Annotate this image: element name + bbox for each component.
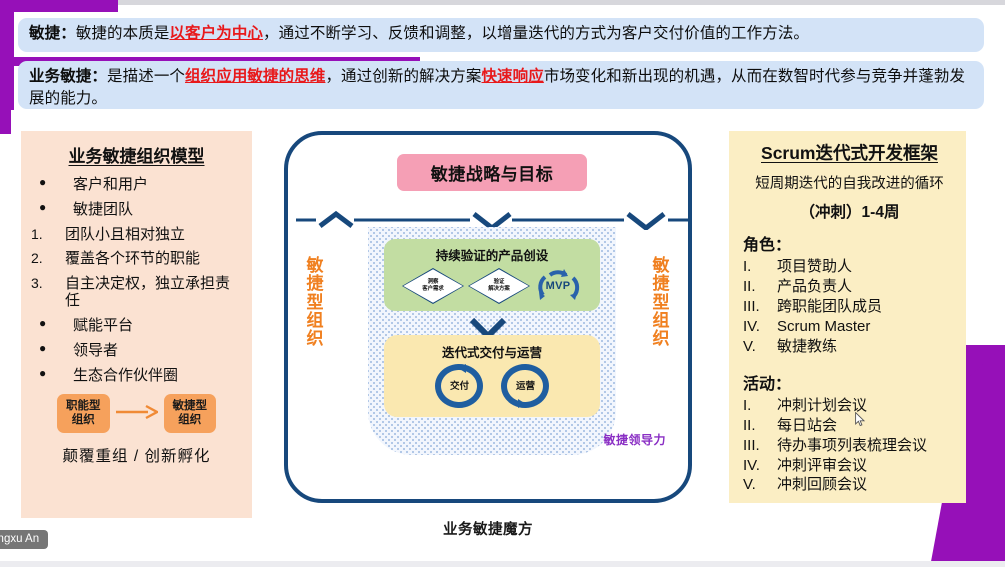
sprint-duration: （冲刺）1-4周: [743, 200, 956, 222]
list-item-marker: ●: [31, 201, 65, 215]
side-label-char: 捷: [304, 275, 326, 293]
list-item: V.冲刺回顾会议: [743, 475, 956, 495]
left-panel-org-model: 业务敏捷组织模型 ●客户和用户●敏捷团队1.团队小且相对独立2.覆盖各个环节的职…: [21, 131, 252, 518]
highlighted-phrase: 以客户为中心: [169, 25, 263, 42]
mvp-cycle: MVP: [534, 267, 582, 305]
list-item: ●客户和用户: [31, 176, 242, 193]
list-item-marker: 2.: [31, 250, 57, 266]
strategy-goal-box: 敏捷战略与目标: [397, 154, 587, 191]
purple-band-left-lower: [0, 110, 11, 134]
list-item-numeral: V.: [743, 337, 777, 357]
right-panel-title: Scrum迭代式开发框架: [743, 140, 956, 165]
list-item-label: 冲刺计划会议: [777, 396, 956, 416]
list-item-label: 冲刺评审会议: [777, 456, 956, 476]
side-label-char: 组: [304, 312, 326, 330]
side-label-char: 织: [650, 330, 672, 348]
definition-agile: 敏捷：敏捷的本质是以客户为中心，通过不断学习、反馈和调整，以增量迭代的方式为客户…: [18, 18, 984, 52]
side-label-char: 敏: [650, 257, 672, 275]
list-item: I.项目赞助人: [743, 257, 956, 277]
mvp-label: MVP: [546, 280, 571, 292]
list-item-numeral: II.: [743, 416, 777, 436]
list-item-marker: ●: [31, 342, 65, 356]
diamond1-line1: 洞察: [428, 279, 439, 286]
highlighted-phrase: 组织应用敏捷的思维: [185, 68, 325, 85]
definition-text: 敏捷的本质是: [76, 25, 170, 42]
list-item: III.跨职能团队成员: [743, 297, 956, 317]
top-edge-strip: [0, 0, 1005, 5]
events-heading: 活动：: [743, 370, 956, 394]
diamond-insight-customer-needs: 洞察 客户需求: [402, 268, 464, 304]
roles-list: I.项目赞助人II.产品负责人III.跨职能团队成员IV.Scrum Maste…: [743, 257, 956, 357]
purple-band-top: [0, 0, 118, 12]
roles-heading: 角色：: [743, 231, 956, 255]
product-creation-title: 持续验证的产品创设: [384, 239, 600, 264]
badge-functional-org: 职能型 组织: [57, 394, 110, 433]
side-label-left: 敏捷型组织: [304, 257, 326, 349]
list-item: 2.覆盖各个环节的职能: [31, 250, 242, 267]
definition-text: 是描述一个: [107, 68, 185, 85]
list-item: ●领导者: [31, 342, 242, 359]
list-item-numeral: I.: [743, 257, 777, 277]
list-item-marker: 3.: [31, 275, 57, 291]
delivery-operations-block: 迭代式交付与运营 交付 运营: [384, 335, 600, 417]
definition-business-agility-text: 业务敏捷：是描述一个组织应用敏捷的思维，通过创新的解决方案快速响应市场变化和新出…: [29, 68, 965, 107]
list-item: II.产品负责人: [743, 277, 956, 297]
list-item-numeral: IV.: [743, 317, 777, 337]
list-item: III.待办事项列表梳理会议: [743, 436, 956, 456]
definition-text: ，通过创新的解决方案: [325, 68, 481, 85]
slide-canvas: 敏捷：敏捷的本质是以客户为中心，通过不断学习、反馈和调整，以增量迭代的方式为客户…: [0, 0, 1005, 567]
list-item-label: Scrum Master: [777, 317, 956, 337]
list-item-label: 跨职能团队成员: [777, 297, 956, 317]
operations-label: 运营: [516, 378, 535, 392]
definition-business-agility: 业务敏捷：是描述一个组织应用敏捷的思维，通过创新的解决方案快速响应市场变化和新出…: [18, 61, 984, 109]
list-item-label: 团队小且相对独立: [65, 226, 242, 243]
list-item-marker: 1.: [31, 226, 57, 242]
infinity-loop: 交付 运营: [422, 362, 562, 410]
events-list: I.冲刺计划会议II.每日站会III.待办事项列表梳理会议IV.冲刺评审会议V.…: [743, 396, 956, 496]
agile-leadership-label: 敏捷领导力: [603, 431, 666, 448]
list-item-label: 领导者: [73, 342, 242, 359]
participant-name-tag: ingxu An: [0, 530, 48, 549]
highlighted-phrase: 快速响应: [481, 68, 543, 85]
list-item: IV.冲刺评审会议: [743, 456, 956, 476]
list-item: 3.自主决定权，独立承担责任: [31, 275, 242, 310]
side-label-char: 捷: [650, 275, 672, 293]
list-item: V.敏捷教练: [743, 337, 956, 357]
list-item: II.每日站会: [743, 416, 956, 436]
list-item-label: 敏捷教练: [777, 337, 956, 357]
list-item-label: 客户和用户: [73, 176, 242, 193]
list-item-numeral: III.: [743, 436, 777, 456]
list-item-label: 冲刺回顾会议: [777, 475, 956, 495]
list-item-numeral: III.: [743, 297, 777, 317]
list-item-label: 赋能平台: [73, 317, 242, 334]
definition-term: 敏捷：: [29, 25, 76, 42]
side-label-char: 组: [650, 312, 672, 330]
diamond2-line1: 验证: [494, 279, 505, 286]
side-label-char: 型: [650, 294, 672, 312]
diamond2-line2: 解决方案: [488, 286, 510, 293]
list-item-numeral: V.: [743, 475, 777, 495]
diamond-validate-solution: 验证 解决方案: [468, 268, 530, 304]
right-panel-scrum: Scrum迭代式开发框架 短周期迭代的自我改进的循环 （冲刺）1-4周 角色： …: [729, 131, 966, 503]
list-item-label: 待办事项列表梳理会议: [777, 436, 956, 456]
definition-agile-text: 敏捷：敏捷的本质是以客户为中心，通过不断学习、反馈和调整，以增量迭代的方式为客户…: [29, 23, 809, 45]
definition-group: 敏捷：敏捷的本质是以客户为中心，通过不断学习、反馈和调整，以增量迭代的方式为客户…: [18, 18, 984, 109]
list-item-label: 生态合作伙伴圈: [73, 367, 242, 384]
list-item-numeral: II.: [743, 277, 777, 297]
list-item: I.冲刺计划会议: [743, 396, 956, 416]
side-label-right: 敏捷型组织: [650, 257, 672, 349]
side-label-char: 织: [304, 330, 326, 348]
side-label-char: 型: [304, 294, 326, 312]
list-item: ●敏捷团队: [31, 201, 242, 218]
badge-agile-org: 敏捷型 组织: [164, 394, 217, 433]
side-label-char: 敏: [304, 257, 326, 275]
definition-text: ，通过不断学习、反馈和调整，以增量迭代的方式为客户交付价值的工作方法。: [263, 25, 809, 42]
diamond1-line2: 客户需求: [422, 286, 444, 293]
delivery-operations-title: 迭代式交付与运营: [384, 335, 600, 361]
left-panel-footer: 颠覆重组 / 创新孵化: [31, 444, 242, 466]
list-item-marker: ●: [31, 367, 65, 381]
list-item: ●生态合作伙伴圈: [31, 367, 242, 384]
list-item-label: 覆盖各个环节的职能: [65, 250, 242, 267]
left-panel-list: ●客户和用户●敏捷团队1.团队小且相对独立2.覆盖各个环节的职能3.自主决定权，…: [31, 176, 242, 384]
center-caption: 业务敏捷魔方: [284, 518, 692, 539]
mouse-cursor-icon: [855, 412, 865, 427]
bottom-edge-strip: [0, 561, 1005, 567]
list-item-marker: ●: [31, 176, 65, 190]
list-item-label: 敏捷团队: [73, 201, 242, 218]
list-item-label: 项目赞助人: [777, 257, 956, 277]
arrow-right-icon: [116, 402, 158, 424]
definition-term: 业务敏捷：: [29, 68, 107, 85]
purple-band-left: [0, 0, 14, 110]
list-item-label: 自主决定权，独立承担责任: [65, 275, 242, 310]
list-item: 1.团队小且相对独立: [31, 226, 242, 243]
list-item-label: 产品负责人: [777, 277, 956, 297]
list-item: ●赋能平台: [31, 317, 242, 334]
product-creation-block: 持续验证的产品创设 洞察 客户需求 验证 解决方案: [384, 239, 600, 311]
list-item-marker: ●: [31, 317, 65, 331]
list-item: IV.Scrum Master: [743, 317, 956, 337]
delivery-label: 交付: [450, 378, 469, 392]
transformation-badges: 职能型 组织 敏捷型 组织: [31, 394, 242, 433]
infinity-icon: [422, 362, 562, 410]
right-panel-subtitle: 短周期迭代的自我改进的循环: [743, 172, 956, 193]
center-cube-diagram: 敏捷战略与目标 敏捷型组织 敏捷型组织 持续验证的产品创设 洞察: [284, 131, 692, 503]
list-item-label: 每日站会: [777, 416, 956, 436]
list-item-numeral: IV.: [743, 456, 777, 476]
list-item-numeral: I.: [743, 396, 777, 416]
left-panel-title: 业务敏捷组织模型: [31, 142, 242, 167]
